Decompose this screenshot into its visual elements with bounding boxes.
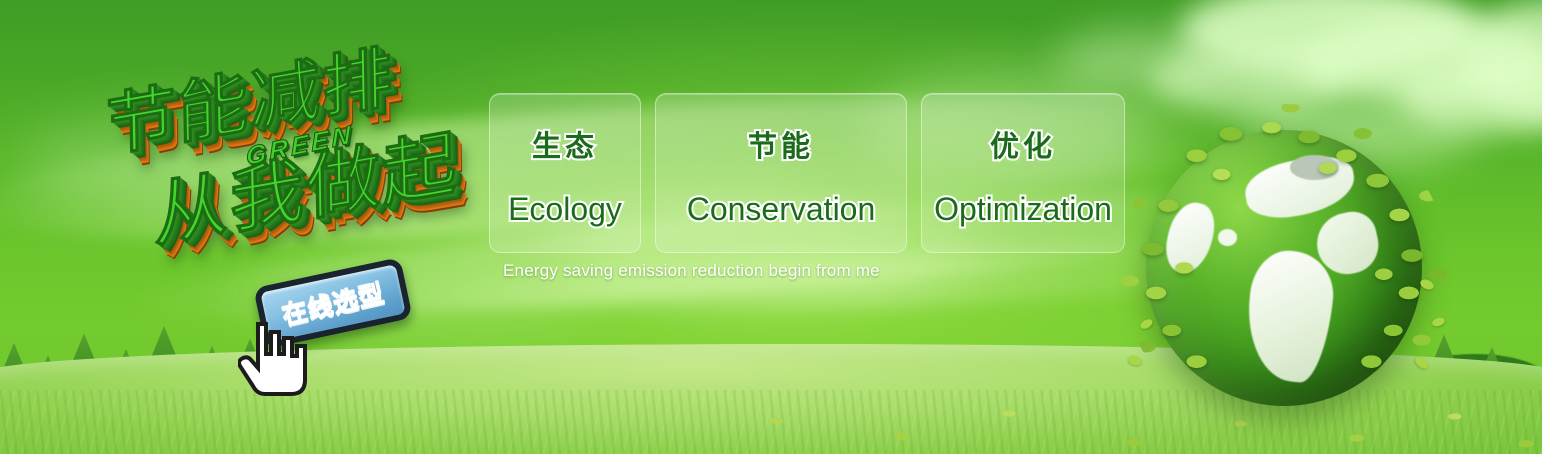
cloud-icon (1460, 0, 1542, 120)
feature-card-en-label: Optimization (934, 191, 1112, 228)
feature-card-ecology[interactable]: 生态 Ecology (489, 93, 641, 253)
cloud-icon (1180, 0, 1480, 78)
bush-icon (470, 386, 530, 410)
feature-card-cn-label: 生态 (532, 123, 598, 165)
bush-icon (1008, 376, 1092, 410)
bush-icon (920, 372, 1016, 410)
feature-card-cn-label: 优化 (990, 123, 1056, 165)
leaf-icon (1127, 354, 1143, 367)
feature-card-conservation[interactable]: 节能 Conservation (655, 93, 907, 253)
eco-promo-banner: 节能减排 GREEN 从我做起 在线选型 生态 Ecology 节能 Conse… (0, 0, 1542, 454)
bush-icon (852, 380, 930, 410)
cloud-icon (1150, 44, 1350, 114)
vine-leaf-ring-outer (1120, 104, 1448, 432)
hand-pointer-icon (238, 318, 308, 396)
bush-icon (600, 384, 658, 410)
hero-headline: 节能减排 GREEN 从我做起 (96, 38, 496, 268)
cloud-icon (1055, 30, 1225, 88)
bush-icon (420, 390, 472, 410)
bush-icon (712, 382, 778, 410)
bush-icon (648, 378, 722, 410)
cloud-icon (1300, 18, 1542, 104)
feature-card-list: 生态 Ecology 节能 Conservation 优化 Optimizati… (489, 93, 1125, 253)
leaf-icon (1413, 354, 1430, 371)
banner-subtitle: Energy saving emission reduction begin f… (503, 261, 880, 281)
feature-card-en-label: Conservation (687, 191, 876, 228)
feature-card-optimization[interactable]: 优化 Optimization (921, 93, 1125, 253)
feature-card-en-label: Ecology (508, 191, 622, 228)
feature-card-cn-label: 节能 (748, 123, 814, 165)
leafy-earth-globe-icon (1128, 112, 1440, 424)
bush-icon (770, 376, 860, 410)
